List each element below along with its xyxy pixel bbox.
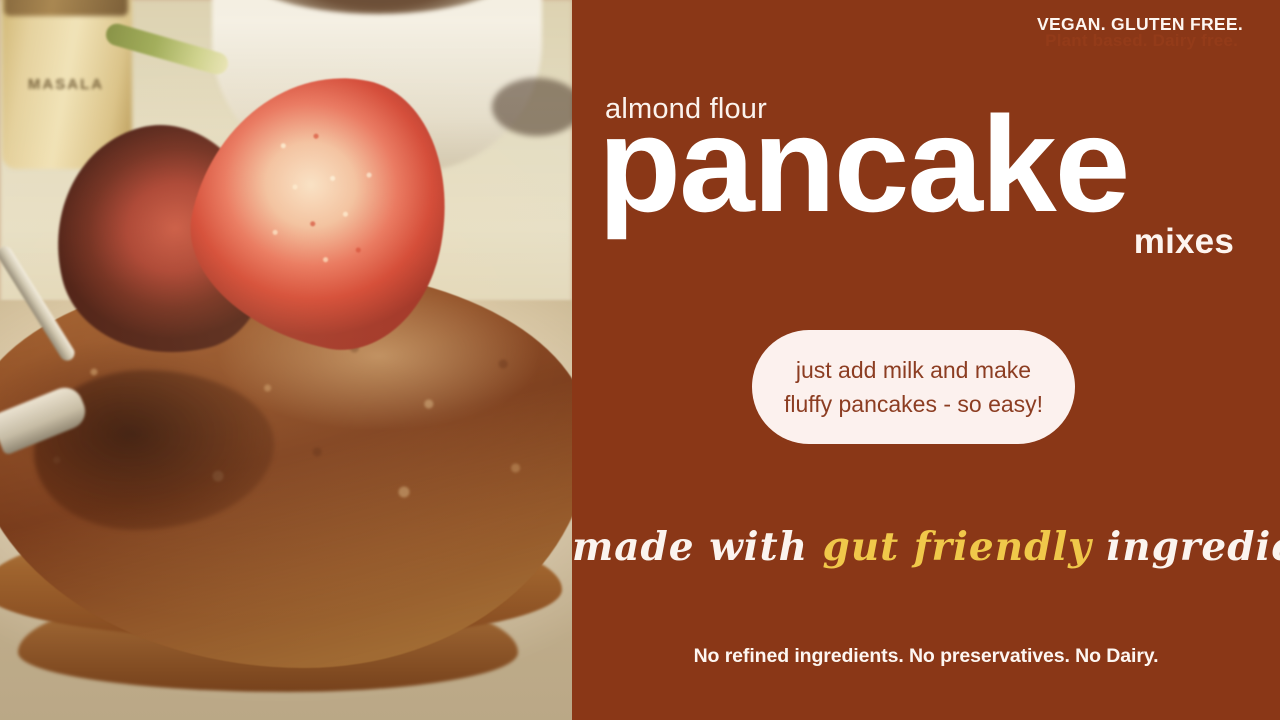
product-photo: MASALA <box>0 0 572 720</box>
script-tagline: made with gut friendly ingredients <box>572 524 1280 570</box>
script-tagline-highlight: gut friendly <box>823 524 1092 570</box>
spice-jar-lid <box>4 0 128 16</box>
spice-jar-label: MASALA <box>18 74 114 124</box>
script-tagline-pre: made with <box>572 524 823 570</box>
diet-claims-text: VEGAN. GLUTEN FREE. <box>1037 14 1243 35</box>
footnote-claims: No refined ingredients. No preservatives… <box>572 645 1280 668</box>
product-wordmark-sub: mixes <box>1134 224 1234 259</box>
copy-panel: Plant based. Dairy free. VEGAN. GLUTEN F… <box>572 0 1280 720</box>
promo-banner: MASALA Plant based. Dairy free. VEGAN. G… <box>0 0 1280 720</box>
script-tagline-post: ingredients <box>1092 524 1280 570</box>
usp-pill-line-1: just add milk and make <box>796 353 1031 387</box>
product-wordmark: pancake <box>598 96 1128 232</box>
usp-pill: just add milk and make fluffy pancakes -… <box>752 330 1075 444</box>
usp-pill-line-2: fluffy pancakes - so easy! <box>784 387 1043 421</box>
coffee-cup-handle <box>492 78 572 136</box>
